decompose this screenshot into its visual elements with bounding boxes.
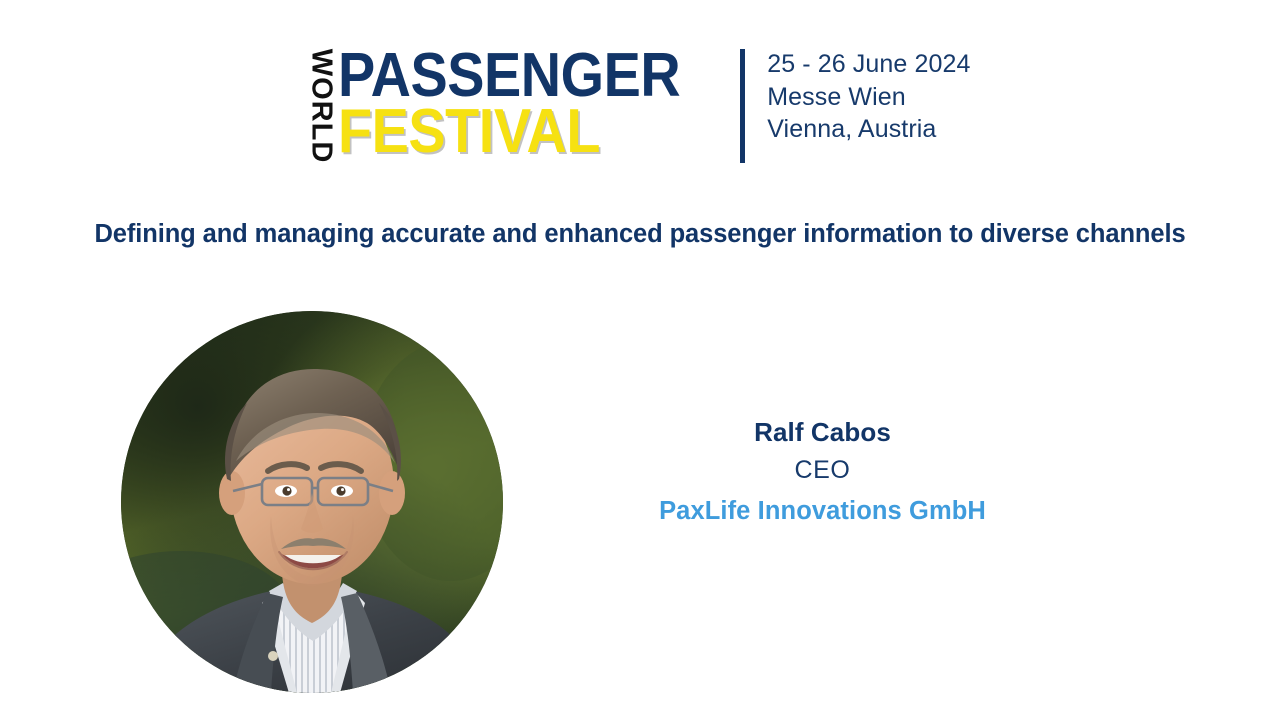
- slide-canvas: WORLD PASSENGER FESTIVAL 25 - 26 June 20…: [0, 0, 1279, 720]
- logo-world-vertical-wrap: WORLD: [306, 44, 336, 168]
- event-info-block: 25 - 26 June 2024 Messe Wien Vienna, Aus…: [767, 44, 970, 146]
- world-passenger-festival-logo: WORLD PASSENGER FESTIVAL: [306, 44, 718, 168]
- speaker-info-block: Ralf Cabos CEO PaxLife Innovations GmbH: [585, 414, 1060, 530]
- logo-wordmark-stack: PASSENGER FESTIVAL: [338, 44, 718, 168]
- speaker-role: CEO: [585, 452, 1060, 490]
- event-logo-lockup: WORLD PASSENGER FESTIVAL 25 - 26 June 20…: [306, 44, 970, 168]
- event-venue: Messe Wien: [767, 81, 970, 114]
- logo-word-festival: FESTIVAL: [338, 102, 680, 162]
- logo-word-world: WORLD: [307, 49, 336, 164]
- session-title: Defining and managing accurate and enhan…: [64, 218, 1216, 252]
- event-city: Vienna, Austria: [767, 113, 970, 146]
- speaker-company: PaxLife Innovations GmbH: [585, 492, 1060, 530]
- event-dates: 25 - 26 June 2024: [767, 48, 970, 81]
- logo-divider-bar: [740, 49, 745, 163]
- speaker-name: Ralf Cabos: [585, 414, 1060, 452]
- speaker-portrait: [121, 311, 503, 693]
